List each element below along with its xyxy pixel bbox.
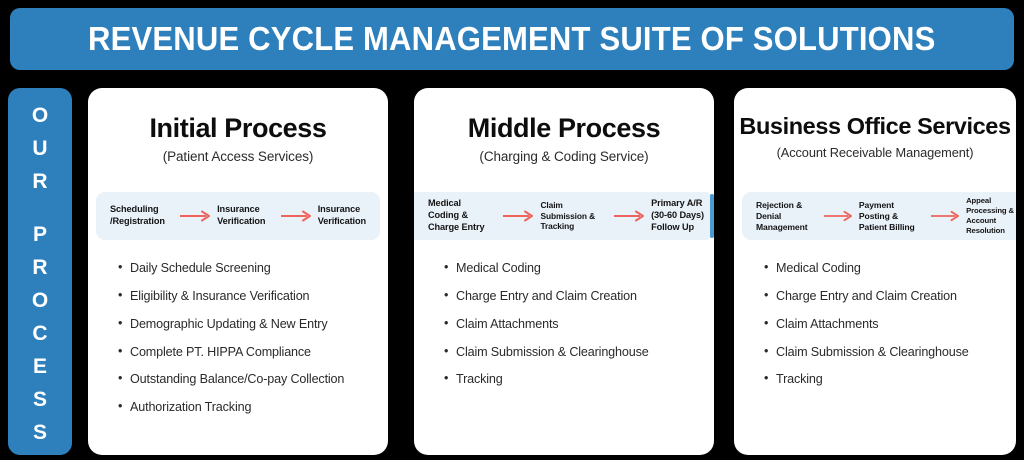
- card-header: Initial Process (Patient Access Services…: [88, 88, 388, 164]
- arrow-right-icon: [180, 210, 210, 222]
- sidebar-letter: U: [32, 132, 47, 165]
- list-item: Medical Coding: [444, 260, 700, 276]
- sidebar-word-our: O U R: [32, 99, 48, 198]
- card-subtitle: (Account Receivable Management): [734, 145, 1016, 160]
- arrow-right-icon: [614, 210, 644, 222]
- card-subtitle: (Charging & Coding Service): [414, 149, 714, 164]
- flow-strip: Medical Coding & Charge Entry Claim Subm…: [414, 192, 714, 240]
- list-item: Demographic Updating & New Entry: [118, 316, 374, 332]
- flow-step: Scheduling /Registration: [110, 204, 165, 228]
- process-card-middle[interactable]: Middle Process (Charging & Coding Servic…: [414, 88, 714, 455]
- flow-strip: Scheduling /Registration Insurance Verif…: [96, 192, 380, 240]
- flow-step: Claim Submission & Tracking: [540, 200, 595, 232]
- card-title: Middle Process: [414, 114, 714, 144]
- list-item: Authorization Tracking: [118, 399, 374, 415]
- sidebar-letter: O: [32, 99, 48, 132]
- sidebar-letter: C: [32, 317, 47, 350]
- card-title: Initial Process: [88, 114, 388, 144]
- card-header: Business Office Services (Account Receiv…: [734, 88, 1016, 160]
- flow-step: Primary A/R (30-60 Days) Follow Up: [651, 198, 704, 233]
- list-item: Charge Entry and Claim Creation: [444, 288, 700, 304]
- service-list: Medical Coding Charge Entry and Claim Cr…: [764, 260, 1002, 399]
- list-item: Charge Entry and Claim Creation: [764, 288, 1002, 304]
- flow-step: Insurance Verification: [318, 204, 366, 228]
- sidebar-letter: S: [33, 416, 47, 449]
- list-item: Daily Schedule Screening: [118, 260, 374, 276]
- list-item: Outstanding Balance/Co-pay Collection: [118, 371, 374, 387]
- list-item: Claim Submission & Clearinghouse: [764, 344, 1002, 360]
- service-list: Medical Coding Charge Entry and Claim Cr…: [444, 260, 700, 399]
- card-subtitle: (Patient Access Services): [88, 149, 388, 164]
- arrow-right-icon: [824, 210, 852, 222]
- list-item: Tracking: [444, 371, 700, 387]
- list-item: Medical Coding: [764, 260, 1002, 276]
- arrow-right-icon: [281, 210, 311, 222]
- our-process-sidebar: O U R P R O C E S S: [8, 88, 72, 455]
- list-item: Tracking: [764, 371, 1002, 387]
- flow-step: Rejection & Denial Management: [756, 200, 808, 233]
- flow-step: Payment Posting & Patient Billing: [859, 200, 915, 233]
- flow-step: Insurance Verification: [217, 204, 265, 228]
- sidebar-letter: S: [33, 383, 47, 416]
- service-list: Daily Schedule Screening Eligibility & I…: [118, 260, 374, 427]
- list-item: Claim Submission & Clearinghouse: [444, 344, 700, 360]
- sidebar-letter: P: [33, 218, 47, 251]
- arrow-right-icon: [931, 210, 959, 222]
- sidebar-word-process: P R O C E S S: [32, 218, 48, 449]
- sidebar-letter: O: [32, 284, 48, 317]
- card-title: Business Office Services: [734, 114, 1016, 140]
- flow-step: Appeal Processing & Account Resolution: [966, 196, 1014, 235]
- list-item: Eligibility & Insurance Verification: [118, 288, 374, 304]
- sidebar-letter: R: [32, 251, 47, 284]
- process-card-business-office[interactable]: Business Office Services (Account Receiv…: [734, 88, 1016, 455]
- list-item: Complete PT. HIPPA Compliance: [118, 344, 374, 360]
- flow-accent-bar: [710, 194, 714, 238]
- flow-strip: Rejection & Denial Management Payment Po…: [742, 192, 1016, 240]
- header-banner: REVENUE CYCLE MANAGEMENT SUITE OF SOLUTI…: [10, 8, 1014, 70]
- process-card-initial[interactable]: Initial Process (Patient Access Services…: [88, 88, 388, 455]
- page-title: REVENUE CYCLE MANAGEMENT SUITE OF SOLUTI…: [88, 20, 935, 58]
- flow-step: Medical Coding & Charge Entry: [428, 198, 485, 233]
- list-item: Claim Attachments: [444, 316, 700, 332]
- process-cards-row: Initial Process (Patient Access Services…: [88, 88, 1016, 455]
- sidebar-letter: E: [33, 350, 47, 383]
- sidebar-letter: R: [32, 165, 47, 198]
- card-header: Middle Process (Charging & Coding Servic…: [414, 88, 714, 164]
- arrow-right-icon: [503, 210, 533, 222]
- list-item: Claim Attachments: [764, 316, 1002, 332]
